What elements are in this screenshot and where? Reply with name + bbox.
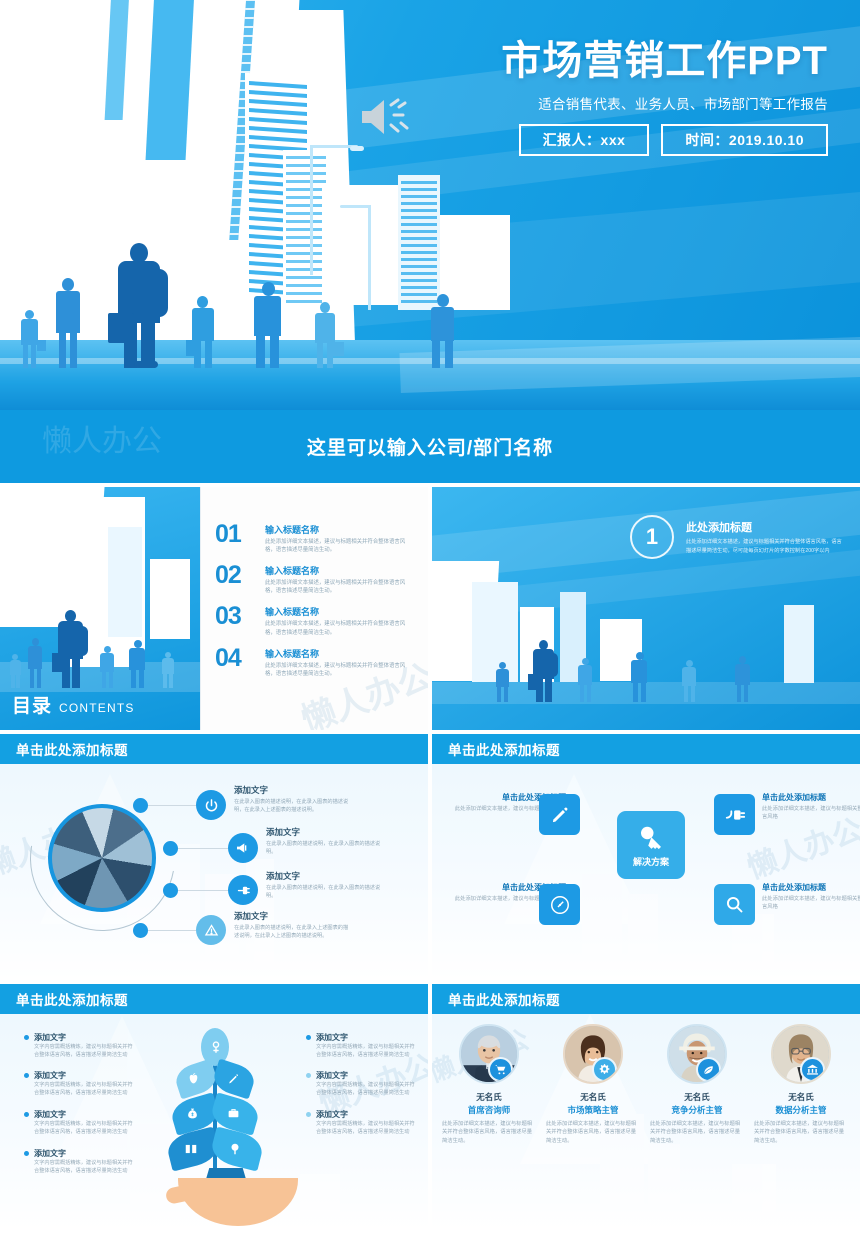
slide-thumbnail-team[interactable]: 单击此处添加标题 懒人办公 <box>430 984 860 1233</box>
toc-item-desc: 此处添加详细文本描述，建议与标题相关并符合整体语言风格，语言描述尽量简洁生动。 <box>265 662 414 678</box>
pedestrian-silhouette-main <box>52 610 90 688</box>
toc-item[interactable]: 04 输入标题名称 此处添加详细文本描述，建议与标题相关并符合整体语言风格，语言… <box>215 647 414 678</box>
diagram-connector <box>178 848 228 849</box>
item-desc: 在此录入图表的描述说明，在此录入图表的描述说明，在此录入上述图表的描述说明。 <box>234 798 352 814</box>
member-desc: 此处添加详细文本描述，建议与标题相关并符合整体语言风格，语言描述尽量简洁生动。 <box>646 1120 748 1145</box>
member-name: 无名氏 <box>646 1091 748 1103</box>
apple-icon <box>187 1072 200 1085</box>
pedestrian-silhouette <box>248 282 288 368</box>
list-item: 添加文字 在此录入图表的描述说明，在此录入图表的描述说明。 <box>266 870 384 900</box>
pedestrian-silhouette <box>310 302 342 368</box>
item-desc: 文字内容需概括精炼，建议与标题相关并符合整体语言风格，语言描述尽量简洁生动 <box>34 1081 136 1098</box>
pedestrian-silhouette-main <box>108 243 172 368</box>
briefcase-icon <box>227 1107 240 1120</box>
team-slide-body: 懒人办公 <box>432 1014 860 1229</box>
street-lamp-post <box>368 205 371 310</box>
member-name: 无名氏 <box>438 1091 540 1103</box>
warning-icon[interactable] <box>196 915 226 945</box>
watermark: 懒人办公 <box>42 416 162 460</box>
date-field[interactable]: 时间：2019.10.10 <box>661 124 828 156</box>
pedestrian-silhouette <box>732 656 754 702</box>
diagram-connector <box>148 805 196 806</box>
member-desc: 此处添加详细文本描述，建议与标题相关并符合整体语言风格，语言描述尽量简洁生动。 <box>750 1120 852 1145</box>
leaf-icon[interactable] <box>696 1057 721 1082</box>
pedestrian-silhouette-main <box>528 640 560 702</box>
slide-thumbnail-section[interactable]: 1 此处添加标题 此处添加详细文本描述，建议与标题相关并符合整体语言风格，语言描… <box>430 487 860 734</box>
pedestrian-silhouette <box>18 310 44 368</box>
item-desc: 此处添加详细文本描述，建议与标题相关整体语言风格 <box>762 895 860 912</box>
member-role: 数据分析主管 <box>750 1104 852 1116</box>
section-header-row: 1 此处添加标题 此处添加详细文本描述，建议与标题相关并符合整体语言风格，语言描… <box>630 515 846 559</box>
item-title: 添加文字 <box>266 826 384 838</box>
toc-item-title: 输入标题名称 <box>265 647 414 660</box>
plug-icon[interactable] <box>228 875 258 905</box>
member-name: 无名氏 <box>542 1091 644 1103</box>
plug-icon[interactable] <box>714 794 755 835</box>
toc-number: 02 <box>215 564 256 588</box>
item-title: 添加文字 <box>234 784 352 796</box>
power-icon[interactable] <box>196 790 226 820</box>
toc-item[interactable]: 01 输入标题名称 此处添加详细文本描述，建议与标题相关并符合整体语言风格，语言… <box>215 523 414 554</box>
item-title: 单击此处添加标题 <box>762 792 860 803</box>
toc-number: 03 <box>215 605 256 629</box>
bullet-dot <box>24 1151 29 1156</box>
pedestrian-silhouette <box>186 296 220 368</box>
street-lamp-post <box>310 145 313 275</box>
street-lamp-arm <box>340 205 370 208</box>
pedestrian-silhouette <box>160 652 178 688</box>
hero-subtitle: 适合销售代表、业务人员、市场部门等工作报告 <box>358 93 828 113</box>
toc-label-cn: 目录 <box>12 691 52 718</box>
member-role: 市场策略主管 <box>542 1104 644 1116</box>
hero-slide: 市场营销工作PPT 适合销售代表、业务人员、市场部门等工作报告 汇报人：xxx … <box>0 0 860 410</box>
slide-thumbnail-grid: 目录 CONTENTS 懒人办公 01 输入标题名称 此处添加详细文本描述，建议… <box>0 487 860 1233</box>
pedestrian-silhouette <box>126 640 150 688</box>
team-member-card[interactable]: 无名氏 竞争分析主管 此处添加详细文本描述，建议与标题相关并符合整体语言风格，语… <box>646 1024 748 1145</box>
slide-thumbnail-circle-diagram[interactable]: 单击此处添加标题 懒人办公 <box>0 734 430 984</box>
bank-icon[interactable] <box>800 1057 825 1082</box>
toc-item[interactable]: 02 输入标题名称 此处添加详细文本描述，建议与标题相关并符合整体语言风格，语言… <box>215 564 414 595</box>
avatar <box>667 1024 727 1084</box>
toc-item-desc: 此处添加详细文本描述，建议与标题相关并符合整体语言风格，语言描述尽量简洁生动。 <box>265 579 414 595</box>
building-right-tower <box>398 175 440 310</box>
item-title: 单击此处添加标题 <box>762 882 860 893</box>
toc-label: 目录 CONTENTS <box>12 691 135 718</box>
list-item: 添加文字 在此录入图表的描述说明，在此录入上述图表的描述说明，在此录入上述图表的… <box>234 910 352 940</box>
list-item: 添加文字 文字内容需概括精炼，建议与标题相关并符合整体语言风格，语言描述尽量简洁… <box>306 1032 418 1060</box>
pedestrian-silhouette <box>680 660 700 702</box>
member-role: 首席咨询师 <box>438 1104 540 1116</box>
page-title: 市场营销工作PPT <box>358 40 828 82</box>
pencil-icon[interactable] <box>539 794 580 835</box>
diagram-connector <box>178 890 228 891</box>
pedestrian-silhouette <box>8 654 24 688</box>
hero-text-block: 市场营销工作PPT 适合销售代表、业务人员、市场部门等工作报告 汇报人：xxx … <box>358 40 828 156</box>
solution-text-right: 单击此处添加标题 此处添加详细文本描述，建议与标题相关整体语言风格 <box>762 882 860 912</box>
item-desc: 文字内容需概括精炼，建议与标题相关并符合整体语言风格，语言描述尽量简洁生动 <box>34 1043 136 1060</box>
item-desc: 文字内容需概括精炼，建议与标题相关并符合整体语言风格，语言描述尽量简洁生动 <box>316 1120 418 1137</box>
pedestrian-silhouette <box>98 646 118 688</box>
female-symbol-icon <box>209 1036 223 1058</box>
hero-meta-row: 汇报人：xxx 时间：2019.10.10 <box>358 124 828 156</box>
member-desc: 此处添加详细文本描述，建议与标题相关并符合整体语言风格，语言描述尽量简洁生动。 <box>438 1120 540 1145</box>
item-desc: 在此录入图表的描述说明，在此录入图表的描述说明。 <box>266 840 384 856</box>
pedestrian-silhouette <box>576 658 596 702</box>
tree-illustration <box>160 1028 270 1218</box>
bullet-dot <box>24 1035 29 1040</box>
team-member-card[interactable]: 无名氏 首席咨询师 此处添加详细文本描述，建议与标题相关并符合整体语言风格，语言… <box>438 1024 540 1145</box>
item-title: 添加文字 <box>34 1032 136 1043</box>
toc-item-title: 输入标题名称 <box>265 564 414 577</box>
list-item: 添加文字 文字内容需概括精炼，建议与标题相关并符合整体语言风格，语言描述尽量简洁… <box>24 1032 136 1060</box>
item-title: 添加文字 <box>34 1109 136 1120</box>
tree-slide-body: 懒人办公 <box>0 1014 428 1229</box>
item-title: 添加文字 <box>34 1070 136 1081</box>
gear-icon[interactable] <box>592 1057 617 1082</box>
item-desc: 文字内容需概括精炼，建议与标题相关并符合整体语言风格，语言描述尽量简洁生动 <box>34 1120 136 1137</box>
key-icon <box>636 823 666 853</box>
team-member-card[interactable]: 无名氏 数据分析主管 此处添加详细文本描述，建议与标题相关并符合整体语言风格，语… <box>750 1024 852 1145</box>
list-item: 添加文字 文字内容需概括精炼，建议与标题相关并符合整体语言风格，语言描述尽量简洁… <box>24 1148 136 1176</box>
magnifier-icon[interactable] <box>714 884 755 925</box>
solution-center-tile[interactable]: 解决方案 <box>617 811 685 879</box>
bullet-dot <box>306 1035 311 1040</box>
list-item: 添加文字 在此录入图表的描述说明，在此录入图表的描述说明，在此录入上述图表的描述… <box>234 784 352 814</box>
item-title: 添加文字 <box>34 1148 136 1159</box>
team-member-card[interactable]: 无名氏 市场策略主管 此处添加详细文本描述，建议与标题相关并符合整体语言风格，语… <box>542 1024 644 1145</box>
item-desc: 文字内容需概括精炼，建议与标题相关并符合整体语言风格，语言描述尽量简洁生动 <box>316 1043 418 1060</box>
bullet-dot <box>24 1073 29 1078</box>
list-item: 添加文字 文字内容需概括精炼，建议与标题相关并符合整体语言风格，语言描述尽量简洁… <box>306 1109 418 1137</box>
diagram-connector <box>148 930 196 931</box>
toc-list: 懒人办公 01 输入标题名称 此处添加详细文本描述，建议与标题相关并符合整体语言… <box>200 487 428 730</box>
tree-icon <box>228 1142 242 1156</box>
item-desc: 在此录入图表的描述说明，在此录入图表的描述说明。 <box>266 884 384 900</box>
list-item: 添加文字 在此录入图表的描述说明，在此录入图表的描述说明。 <box>266 826 384 856</box>
book-icon <box>184 1142 198 1156</box>
building-low <box>322 185 402 305</box>
toc-item-title: 输入标题名称 <box>265 523 414 536</box>
avatar <box>563 1024 623 1084</box>
pedestrian-silhouette <box>26 638 46 688</box>
item-title: 添加文字 <box>316 1032 418 1043</box>
avatar <box>459 1024 519 1084</box>
company-name-banner: 懒人办公 这里可以输入公司/部门名称 <box>0 410 860 483</box>
avatar <box>771 1024 831 1084</box>
section-title: 此处添加标题 <box>686 519 846 535</box>
diagram-node[interactable] <box>163 841 178 856</box>
solution-center-label: 解决方案 <box>633 855 669 868</box>
bullet-dot <box>24 1112 29 1117</box>
slide-title-bar: 单击此处添加标题 <box>432 984 860 1014</box>
pen-icon <box>227 1072 240 1085</box>
pedestrian-silhouette <box>494 662 512 702</box>
solution-text-right: 单击此处添加标题 此处添加详细文本描述，建议与标题相关整体语言风格 <box>762 792 860 822</box>
megaphone-icon[interactable] <box>228 833 258 863</box>
item-title: 添加文字 <box>316 1109 418 1120</box>
toc-label-en: CONTENTS <box>59 701 135 715</box>
bullet-dot <box>306 1073 311 1078</box>
list-item: 添加文字 文字内容需概括精炼，建议与标题相关并符合整体语言风格，语言描述尽量简洁… <box>24 1109 136 1137</box>
item-desc: 在此录入图表的描述说明，在此录入上述图表的描述说明，在此录入上述图表的描述说明。 <box>234 924 352 940</box>
solution-body: 懒人办公 单击此处添加标题 此处添加详细文本描述，建议与标题相关整体语言风格 单… <box>432 764 860 980</box>
member-role: 竞争分析主管 <box>646 1104 748 1116</box>
item-desc: 文字内容需概括精炼，建议与标题相关并符合整体语言风格，语言描述尽量简洁生动 <box>34 1159 136 1176</box>
bullet-dot <box>306 1112 311 1117</box>
item-desc: 文字内容需概括精炼，建议与标题相关并符合整体语言风格，语言描述尽量简洁生动 <box>316 1081 418 1098</box>
item-desc: 此处添加详细文本描述，建议与标题相关整体语言风格 <box>762 805 860 822</box>
cart-icon[interactable] <box>488 1057 513 1082</box>
circle-diagram-body: 懒人办公 <box>0 764 428 980</box>
toc-number: 01 <box>215 523 256 547</box>
section-divider-slide: 1 此处添加标题 此处添加详细文本描述，建议与标题相关并符合整体语言风格，语言描… <box>432 487 860 730</box>
slide-title-bar: 单击此处添加标题 <box>0 984 428 1014</box>
company-name-text[interactable]: 这里可以输入公司/部门名称 <box>307 433 553 460</box>
pedestrian-silhouette <box>628 652 652 702</box>
toc-item[interactable]: 03 输入标题名称 此处添加详细文本描述，建议与标题相关并符合整体语言风格，语言… <box>215 605 414 636</box>
toc-item-title: 输入标题名称 <box>265 605 414 618</box>
section-number-badge: 1 <box>630 515 674 559</box>
slide-thumbnail-toc[interactable]: 目录 CONTENTS 懒人办公 01 输入标题名称 此处添加详细文本描述，建议… <box>0 487 430 734</box>
reporter-field[interactable]: 汇报人：xxx <box>519 124 650 156</box>
list-item: 添加文字 文字内容需概括精炼，建议与标题相关并符合整体语言风格，语言描述尽量简洁… <box>24 1070 136 1098</box>
circular-photo <box>48 804 156 912</box>
list-item: 添加文字 文字内容需概括精炼，建议与标题相关并符合整体语言风格，语言描述尽量简洁… <box>306 1070 418 1098</box>
compass-icon[interactable] <box>539 884 580 925</box>
item-title: 添加文字 <box>266 870 384 882</box>
item-title: 添加文字 <box>234 910 352 922</box>
slide-thumbnail-tree[interactable]: 单击此处添加标题 懒人办公 <box>0 984 430 1233</box>
slide-thumbnail-solution[interactable]: 单击此处添加标题 懒人办公 单击此处添加标题 此处添加详细文本描述，建议与标题相… <box>430 734 860 984</box>
toc-item-desc: 此处添加详细文本描述，建议与标题相关并符合整体语言风格，语言描述尽量简洁生动。 <box>265 538 414 554</box>
toc-number: 04 <box>215 647 256 671</box>
toc-item-desc: 此处添加详细文本描述，建议与标题相关并符合整体语言风格，语言描述尽量简洁生动。 <box>265 620 414 636</box>
member-name: 无名氏 <box>750 1091 852 1103</box>
slide-title-bar: 单击此处添加标题 <box>432 734 860 764</box>
member-desc: 此处添加详细文本描述，建议与标题相关并符合整体语言风格，语言描述尽量简洁生动。 <box>542 1120 644 1145</box>
diagram-node[interactable] <box>163 883 178 898</box>
slide-title-bar: 单击此处添加标题 <box>0 734 428 764</box>
item-title: 添加文字 <box>316 1070 418 1081</box>
toc-cover-panel: 目录 CONTENTS <box>0 487 200 730</box>
pedestrian-silhouette <box>52 278 84 368</box>
diagram-node[interactable] <box>133 923 148 938</box>
pedestrian-silhouette <box>425 294 461 368</box>
money-bag-icon <box>186 1107 199 1120</box>
section-desc: 此处添加详细文本描述，建议与标题相关并符合整体语言风格，语言描述尽量简洁生动，尽… <box>686 538 846 554</box>
diagram-node[interactable] <box>133 798 148 813</box>
